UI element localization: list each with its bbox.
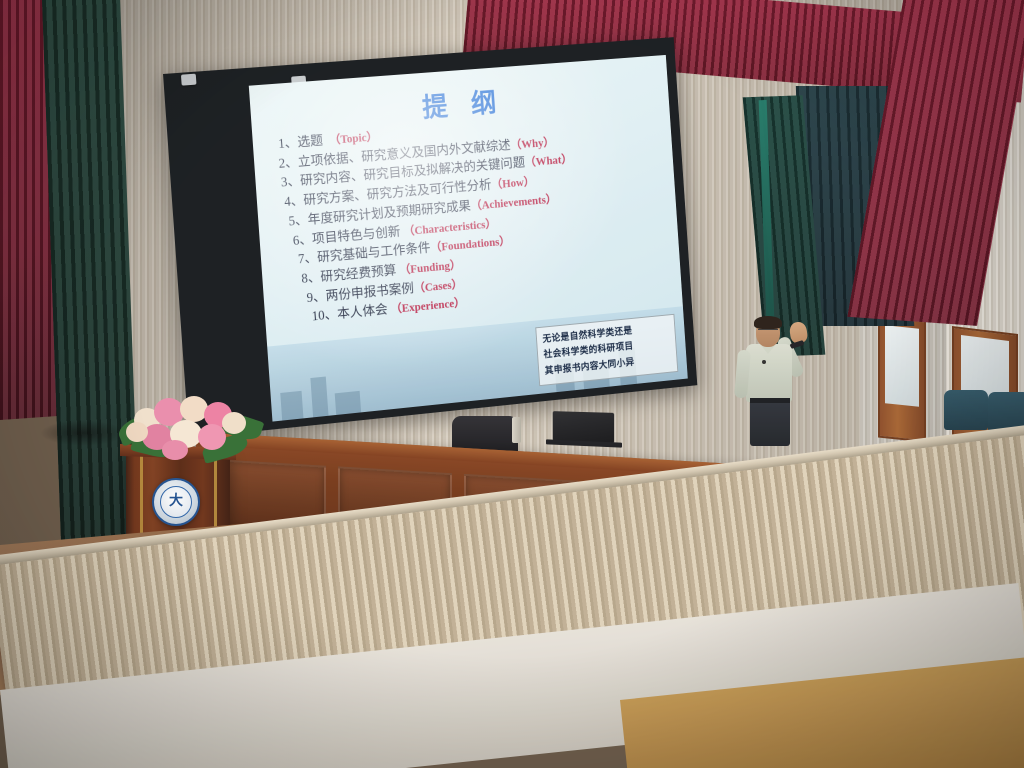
- item-text-en: （Characteristics）: [403, 217, 497, 238]
- item-text-en: （Experience）: [390, 297, 465, 317]
- water-bottle: [512, 417, 521, 443]
- presenter-hair: [754, 316, 782, 329]
- item-text-en: （Cases）: [413, 278, 462, 295]
- bouquet-flower: [198, 424, 226, 450]
- emblem-mark: 大: [169, 490, 183, 510]
- laptop-screen: [553, 411, 614, 443]
- presenter-trousers: [750, 400, 790, 446]
- item-text-cn: 两份申报书案例: [325, 280, 414, 303]
- item-text-cn: 本人体会: [337, 302, 388, 321]
- item-text-en: （Achievements）: [470, 193, 557, 213]
- item-text-en: （Funding）: [399, 258, 461, 276]
- side-door-left: [878, 315, 926, 442]
- auditorium-photo: 提 纲 1、选题 （Topic） 2、立项依据、研究意义及国内外文献综述（Why…: [0, 0, 1024, 768]
- item-number: 7、: [298, 250, 318, 266]
- item-text-en: （Why）: [510, 136, 554, 152]
- flower-bouquet: [118, 392, 260, 462]
- item-number: 2、: [278, 154, 298, 170]
- item-number: 6、: [292, 231, 312, 247]
- item-number: 4、: [284, 193, 304, 209]
- door-glass: [885, 325, 918, 406]
- item-number: 10、: [311, 307, 337, 324]
- item-text-en: （Topic）: [329, 130, 378, 147]
- presenter-belt: [750, 398, 790, 403]
- screen-clip: [181, 74, 197, 86]
- item-text-en: （What）: [525, 153, 573, 169]
- bouquet-flower: [126, 422, 148, 442]
- item-number: 3、: [280, 173, 300, 189]
- slide-photo-building: [335, 391, 361, 415]
- bouquet-flower: [222, 412, 246, 434]
- item-text-en: （Foundations）: [430, 235, 511, 255]
- presenter: [738, 318, 812, 446]
- university-emblem: 大: [152, 478, 200, 526]
- slide-outline-list: 1、选题 （Topic） 2、立项依据、研究意义及国内外文献综述（Why） 3、…: [276, 107, 675, 332]
- item-text-en: （How）: [491, 175, 535, 191]
- item-number: 1、: [278, 135, 298, 151]
- item-number: 8、: [301, 269, 321, 285]
- chair-behind-rostrum-1: [944, 390, 988, 430]
- presenter-lapel-mic: [762, 360, 766, 364]
- item-text-cn: 项目特色与创新: [311, 223, 400, 245]
- slide-photo-building: [310, 377, 328, 418]
- projection-screen-frame: 提 纲 1、选题 （Topic） 2、立项依据、研究意义及国内外文献综述（Why…: [163, 37, 697, 438]
- presenter-glasses-icon: [758, 329, 778, 334]
- item-number: 9、: [306, 288, 326, 305]
- item-number: 5、: [288, 212, 308, 228]
- projection-screen-surface: 提 纲 1、选题 （Topic） 2、立项依据、研究意义及国内外文献综述（Why…: [249, 55, 688, 422]
- green-curtain-tieback: [40, 420, 126, 446]
- slide-photo-building: [280, 391, 303, 421]
- item-text-cn: 选题: [297, 133, 323, 150]
- item-text-cn: 研究经费预算: [320, 262, 397, 284]
- bouquet-flower: [162, 440, 188, 460]
